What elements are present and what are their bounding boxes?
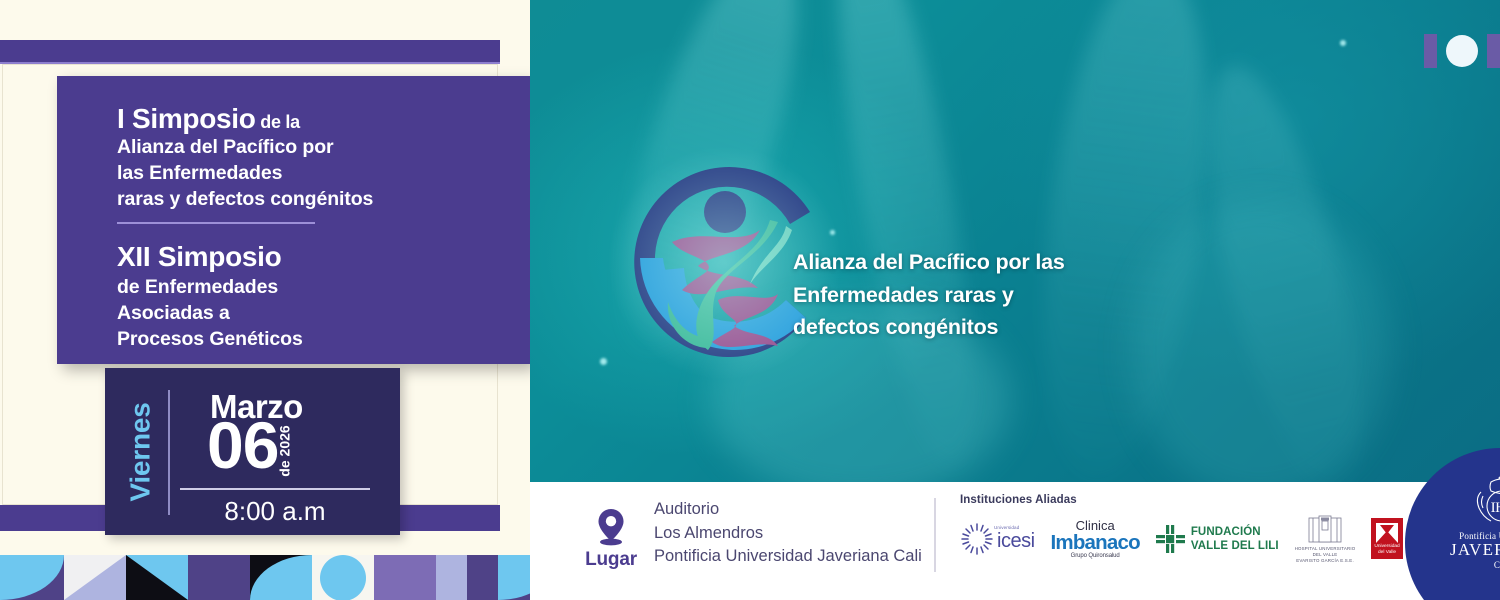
date-horizontal-divider bbox=[180, 488, 370, 490]
symposium-primary-title-suffix: de la bbox=[256, 112, 300, 132]
hospital-universitario-del-valle-logo: HOSPITAL UNIVERSITARIO DEL VALLE EVARIST… bbox=[1295, 514, 1356, 564]
allies-logo-row: Universidad icesi Clinica Imbanaco Grupo… bbox=[960, 514, 1420, 564]
clinica-imbanaco-logo: Clinica Imbanaco Grupo Quironsalud bbox=[1051, 519, 1140, 560]
icesi-logo: Universidad icesi bbox=[960, 522, 1035, 556]
date-year: de 2026 bbox=[291, 411, 313, 495]
teal-hero-panel bbox=[530, 0, 1500, 482]
universidad-del-valle-logo: Universidad del Valle bbox=[1371, 518, 1402, 559]
symposium-secondary-subtitle: de Enfermedades Asociadas a Procesos Gen… bbox=[117, 275, 530, 353]
left-panel: I Simposio de la Alianza del Pacífico po… bbox=[0, 0, 530, 600]
decor-rect-purple-icon bbox=[1424, 34, 1437, 68]
bottom-info-bar: Lugar Auditorio Los Almendros Pontificia… bbox=[530, 482, 1500, 600]
venue-address: Auditorio Los Almendros Pontificia Unive… bbox=[654, 498, 922, 571]
huv-building-icon bbox=[1307, 514, 1343, 544]
tile-quarter-circle-cyan-on-purple-2 bbox=[498, 555, 530, 600]
univalle-v-icon bbox=[1375, 522, 1399, 544]
tile-quarter-circle-cyan-on-purple bbox=[0, 555, 64, 600]
tile-triangle-periwinkle-on-white bbox=[64, 555, 126, 600]
tile-triangle-black-on-cyan bbox=[126, 555, 188, 600]
dna-blob-decor-2 bbox=[1130, 200, 1390, 482]
date-day-of-week: Viernes bbox=[119, 380, 163, 523]
symposium-secondary-subtitle-line-2: Asociadas a bbox=[117, 301, 530, 327]
logo-caption-line-2: Enfermedades raras y bbox=[793, 279, 1123, 312]
event-poster: I Simposio de la Alianza del Pacífico po… bbox=[0, 0, 1500, 600]
icesi-wordmark: icesi bbox=[997, 530, 1035, 552]
javeriana-line-3: Cali bbox=[1437, 560, 1500, 570]
sparkle-decor-3 bbox=[1340, 40, 1346, 46]
logo-caption: Alianza del Pacífico por las Enfermedade… bbox=[793, 246, 1123, 344]
top-right-decor-group bbox=[1424, 34, 1500, 68]
date-vertical-divider bbox=[168, 390, 170, 515]
symposium-primary-title: I Simposio de la bbox=[117, 102, 530, 135]
javeriana-line-2: JAVERIANA bbox=[1437, 541, 1500, 560]
venue-line-3: Pontificia Universidad Javeriana Cali bbox=[654, 545, 922, 569]
imbanaco-group-label: Grupo Quironsalud bbox=[1071, 553, 1120, 559]
title-card: I Simposio de la Alianza del Pacífico po… bbox=[57, 76, 530, 364]
icesi-sunburst-icon bbox=[960, 522, 994, 556]
location-pin-icon bbox=[596, 507, 626, 547]
valle-del-lili-line-1: FUNDACIÓN bbox=[1191, 525, 1279, 539]
decor-circle-white-icon bbox=[1446, 35, 1478, 67]
symposium-secondary-subtitle-line-3: Procesos Genéticos bbox=[117, 327, 530, 353]
tile-solid-purple bbox=[188, 555, 250, 600]
huv-line-3: EVARISTO GARCÍA E.S.E. bbox=[1295, 558, 1356, 564]
tile-quarter-circle-cyan-on-black bbox=[250, 555, 312, 600]
date-day-number: 06 bbox=[207, 412, 278, 478]
imbanaco-top-label: Clinica bbox=[1076, 519, 1115, 532]
tile-circle-cyan-on-white bbox=[312, 555, 374, 600]
valle-del-lili-cross-icon bbox=[1156, 525, 1186, 553]
tile-split-periwinkle-purple bbox=[436, 555, 498, 600]
javeriana-badge-content: IHS Pontificia Universidad JAVERIANA Cal… bbox=[1437, 472, 1500, 570]
venue-block: Lugar Auditorio Los Almendros Pontificia… bbox=[578, 498, 922, 571]
title-divider bbox=[117, 222, 315, 224]
logo-caption-line-1: Alianza del Pacífico por las bbox=[793, 246, 1123, 279]
venue-line-1: Auditorio bbox=[654, 498, 922, 522]
javeriana-crest-icon: IHS bbox=[1467, 472, 1500, 528]
valle-del-lili-line-2: VALLE DEL LILI bbox=[1191, 539, 1279, 553]
symposium-secondary-title: XII Simposio bbox=[117, 240, 530, 274]
date-card: Viernes Marzo 06 de 2026 8:00 a.m bbox=[105, 368, 400, 535]
javeriana-crest-monogram: IHS bbox=[1491, 500, 1500, 516]
allied-institutions-block: Instituciones Aliadas bbox=[960, 494, 1420, 564]
huv-wordmark: HOSPITAL UNIVERSITARIO DEL VALLE EVARIST… bbox=[1295, 546, 1356, 564]
decorative-band-top bbox=[0, 40, 500, 62]
decorative-mosaic-strip bbox=[0, 555, 530, 600]
date-time: 8:00 a.m bbox=[180, 496, 370, 527]
venue-line-2: Los Almendros bbox=[654, 522, 922, 546]
univalle-wordmark: Universidad del Valle bbox=[1374, 544, 1399, 556]
symposium-secondary-subtitle-line-1: de Enfermedades bbox=[117, 275, 530, 301]
fundacion-valle-del-lili-logo: FUNDACIÓN VALLE DEL LILI bbox=[1156, 525, 1279, 553]
allies-title: Instituciones Aliadas bbox=[960, 494, 1420, 506]
decor-rect-purple-2-icon bbox=[1487, 34, 1500, 68]
venue-label: Lugar bbox=[585, 549, 637, 571]
logo-caption-line-3: defectos congénitos bbox=[793, 311, 1123, 344]
symposium-primary-subtitle-line-1: Alianza del Pacífico por bbox=[117, 135, 530, 161]
symposium-primary-subtitle: Alianza del Pacífico por las Enfermedade… bbox=[117, 135, 530, 213]
imbanaco-wordmark: Imbanaco bbox=[1051, 532, 1140, 554]
symposium-primary-subtitle-line-2: las Enfermedades bbox=[117, 161, 530, 187]
valle-del-lili-wordmark: FUNDACIÓN VALLE DEL LILI bbox=[1191, 525, 1279, 553]
tile-solid-violet bbox=[374, 555, 436, 600]
venue-pin-column: Lugar bbox=[578, 507, 644, 571]
sparkle-decor-1 bbox=[600, 358, 607, 365]
univalle-line-2: del Valle bbox=[1374, 550, 1399, 556]
symposium-primary-subtitle-line-3: raras y defectos congénitos bbox=[117, 187, 530, 213]
allies-divider bbox=[934, 498, 936, 572]
symposium-primary-title-strong: I Simposio bbox=[117, 103, 256, 134]
